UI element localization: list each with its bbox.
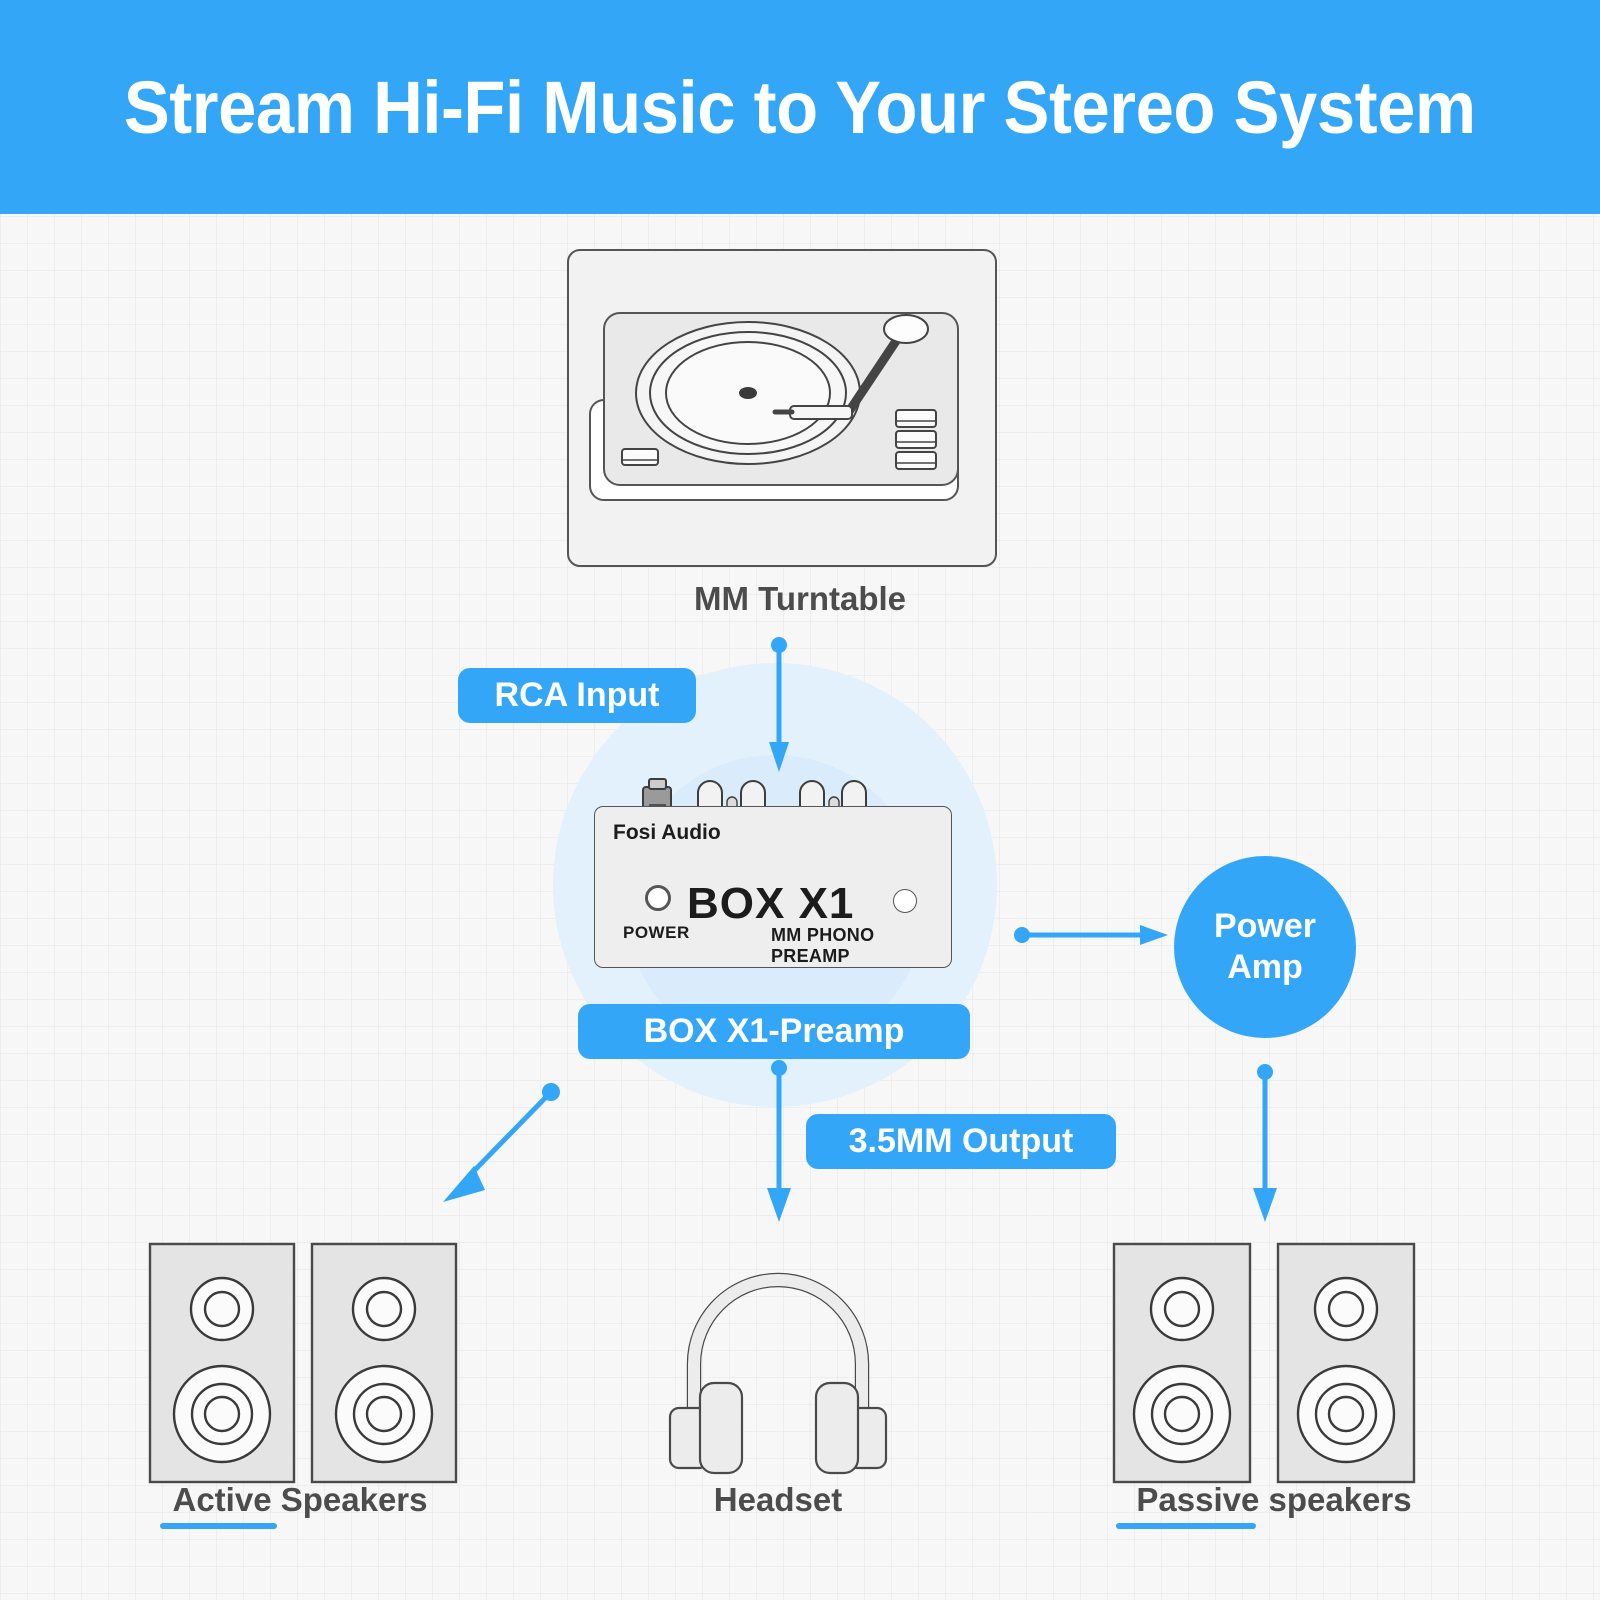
diagram-svg <box>0 0 1600 1600</box>
preamp-power-label: POWER <box>623 923 690 943</box>
passive-speakers-icon <box>1114 1244 1414 1482</box>
label-mm-turntable: MM Turntable <box>0 580 1600 618</box>
badge-rca-input[interactable]: RCA Input <box>458 668 696 723</box>
turntable-icon <box>568 250 996 566</box>
power-amp-line2: Amp <box>1227 947 1303 988</box>
page-title: Stream Hi-Fi Music to Your Stereo System <box>124 65 1476 150</box>
power-led-icon <box>645 885 671 911</box>
output-jack-icon <box>893 889 917 913</box>
preamp-device[interactable]: Fosi Audio POWER BOX X1 MM PHONO PREAMP <box>594 806 952 968</box>
preamp-brand-label: Fosi Audio <box>613 821 721 845</box>
badge-35mm-output[interactable]: 3.5MM Output <box>806 1114 1116 1169</box>
underline-active-speakers <box>160 1523 277 1529</box>
header-banner: Stream Hi-Fi Music to Your Stereo System <box>0 0 1600 214</box>
label-passive-speakers: Passive speakers <box>1080 1481 1468 1519</box>
label-headset: Headset <box>640 1481 916 1519</box>
preamp-model-label: BOX X1 <box>687 879 854 929</box>
badge-box-x1-preamp[interactable]: BOX X1-Preamp <box>578 1004 970 1059</box>
underline-passive-speakers <box>1116 1523 1256 1529</box>
diagram-stage: Fosi Audio POWER BOX X1 MM PHONO PREAMP … <box>0 0 1600 1600</box>
node-power-amp[interactable]: Power Amp <box>1174 856 1356 1038</box>
preamp-subtitle-label: MM PHONO PREAMP <box>771 925 951 967</box>
headset-icon <box>670 1274 886 1473</box>
power-amp-line1: Power <box>1214 906 1316 947</box>
label-active-speakers: Active Speakers <box>112 1481 488 1519</box>
active-speakers-icon <box>150 1244 456 1482</box>
